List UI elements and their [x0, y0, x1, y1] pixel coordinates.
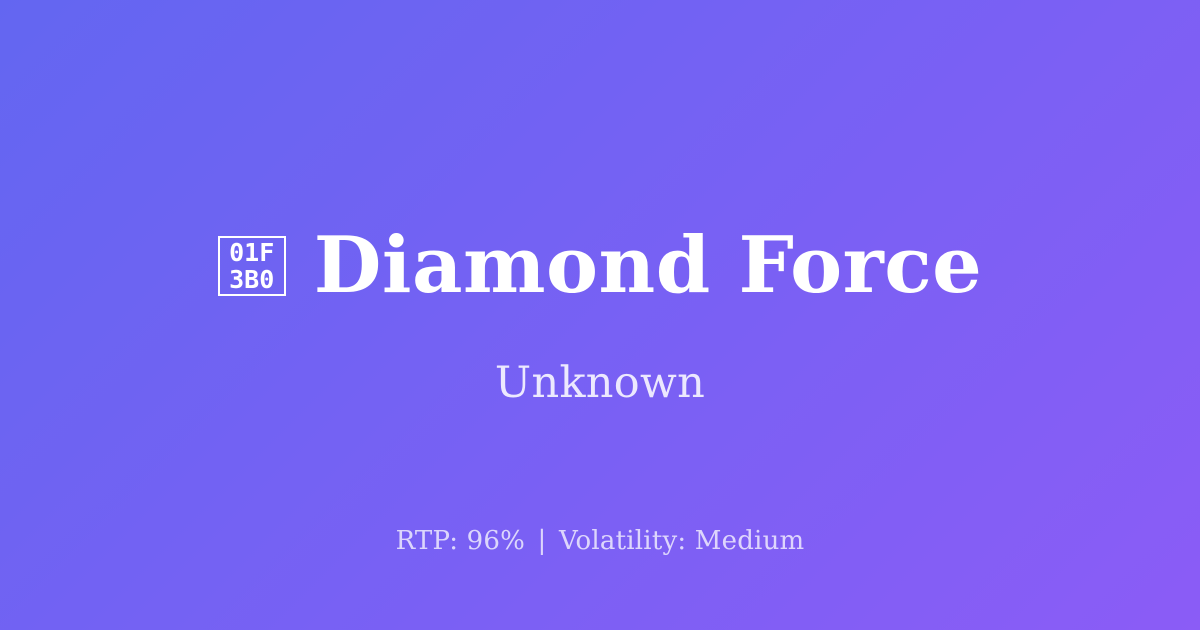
volatility-value: Medium	[695, 526, 805, 556]
game-stats: RTP: 96% | Volatility: Medium	[0, 528, 1200, 554]
volatility-label: Volatility:	[559, 526, 686, 556]
title-row: 01F 3B0 Diamond Force	[0, 227, 1200, 305]
page-subtitle: Unknown	[0, 362, 1200, 405]
stats-separator: |	[534, 526, 551, 556]
rtp-value: 96%	[467, 526, 525, 556]
page-title: Diamond Force	[314, 227, 983, 305]
slot-machine-icon: 01F 3B0	[218, 236, 286, 296]
game-banner-card: 01F 3B0 Diamond Force Unknown RTP: 96% |…	[0, 0, 1200, 630]
slot-machine-icon-codepoint-low: 3B0	[229, 266, 274, 293]
rtp-label: RTP:	[396, 526, 459, 556]
slot-machine-icon-codepoint-high: 01F	[229, 239, 274, 266]
